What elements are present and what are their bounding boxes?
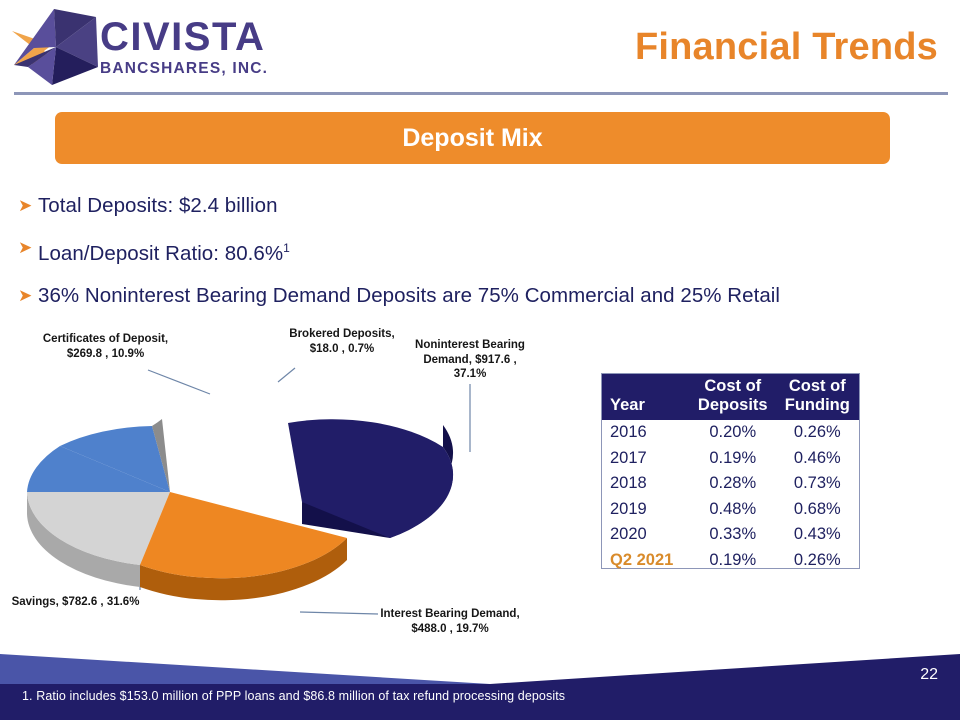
table-row: Q2 2021 0.19% 0.26% [602,548,859,574]
chevron-right-icon: ➤ [14,282,38,310]
cell-cost-of-deposits: 0.28% [690,471,776,497]
list-item-text: Total Deposits: $2.4 billion [38,192,278,220]
table-row: 2019 0.48% 0.68% [602,497,859,523]
list-item-text: Loan/Deposit Ratio: 80.6%1 [38,234,290,268]
deposit-mix-pie-chart: Certificates of Deposit, $269.8 , 10.9% … [0,322,600,662]
list-item: ➤ Loan/Deposit Ratio: 80.6%1 [14,234,914,268]
cell-cost-of-funding: 0.26% [776,420,859,446]
pie-label-brokered-deposits: Brokered Deposits, $18.0 , 0.7% [278,327,406,356]
cell-year: 2020 [602,522,690,548]
cell-cost-of-deposits: 0.48% [690,497,776,523]
cell-cost-of-funding: 0.46% [776,446,859,472]
cell-year: 2016 [602,420,690,446]
pie-label-interest-bearing-demand: Interest Bearing Demand, $488.0 , 19.7% [380,607,520,636]
cost-of-deposits-table: Year Cost of Deposits Cost of Funding 20… [601,373,860,569]
table-row: 2020 0.33% 0.43% [602,522,859,548]
page-title: Financial Trends [635,26,938,69]
footnote-text: 1. Ratio includes $153.0 million of PPP … [22,689,565,703]
column-header-year: Year [602,374,690,420]
cell-year: Q2 2021 [602,548,690,574]
pie-label-certificates-of-deposit: Certificates of Deposit, $269.8 , 10.9% [28,332,183,361]
cell-year: 2017 [602,446,690,472]
column-header-cost-of-funding: Cost of Funding [776,374,859,420]
list-item-text: 36% Noninterest Bearing Demand Deposits … [38,282,780,310]
brand-subtitle: BANCSHARES, INC. [100,59,350,79]
cell-cost-of-deposits: 0.33% [690,522,776,548]
footer-decoration [0,642,960,720]
list-item: ➤ Total Deposits: $2.4 billion [14,192,914,220]
section-banner: Deposit Mix [55,112,890,164]
cell-cost-of-deposits: 0.20% [690,420,776,446]
page-number: 22 [920,666,938,684]
pie-label-savings: Savings, $782.6 , 31.6% [8,595,143,610]
list-item: ➤ 36% Noninterest Bearing Demand Deposit… [14,282,914,310]
slide-header: CIVISTA BANCSHARES, INC. Financial Trend… [0,0,960,98]
table-row: 2016 0.20% 0.26% [602,420,859,446]
column-header-cost-of-deposits: Cost of Deposits [690,374,776,420]
logo-wordmark: CIVISTA BANCSHARES, INC. [100,16,350,80]
brand-name: CIVISTA [100,16,350,58]
table-row: 2018 0.28% 0.73% [602,471,859,497]
table-header-row: Year Cost of Deposits Cost of Funding [602,374,859,420]
chevron-right-icon: ➤ [14,192,38,220]
cell-year: 2019 [602,497,690,523]
cell-cost-of-deposits: 0.19% [690,548,776,574]
cell-cost-of-funding: 0.68% [776,497,859,523]
table-row: 2017 0.19% 0.46% [602,446,859,472]
cell-cost-of-funding: 0.26% [776,548,859,574]
cell-year: 2018 [602,471,690,497]
header-divider [14,92,948,95]
pie-label-noninterest-bearing-demand: Noninterest Bearing Demand, $917.6 , 37.… [410,338,530,382]
cell-cost-of-funding: 0.43% [776,522,859,548]
cell-cost-of-deposits: 0.19% [690,446,776,472]
cell-cost-of-funding: 0.73% [776,471,859,497]
footnote-marker: 1 [283,241,290,255]
section-banner-label: Deposit Mix [402,124,542,153]
bullet-list: ➤ Total Deposits: $2.4 billion ➤ Loan/De… [14,192,914,324]
chevron-right-icon: ➤ [14,234,38,262]
slide-footer: 1. Ratio includes $153.0 million of PPP … [0,642,960,720]
civista-star-icon [8,7,100,87]
